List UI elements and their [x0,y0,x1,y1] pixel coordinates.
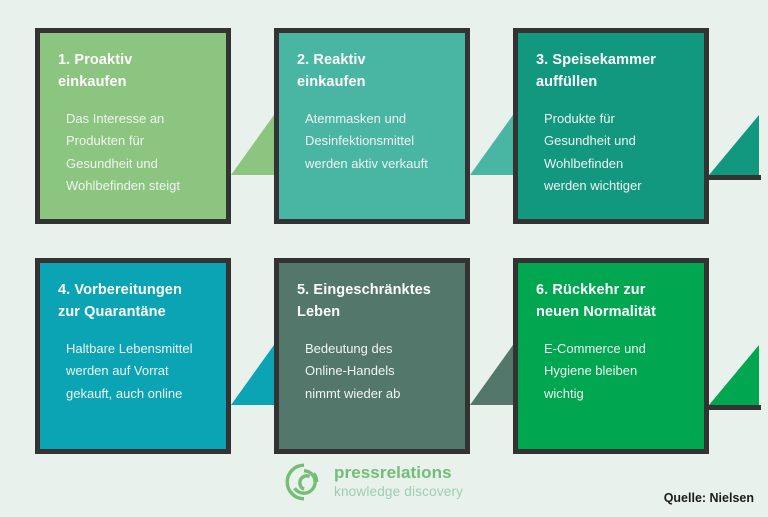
arrow-connector-3-wrap-stem [709,175,761,180]
process-step-5-title: 5. Eingeschränktes Leben [297,279,447,324]
source-attribution: Quelle: Nielsen [664,491,754,505]
arrow-connector-4-to-5 [231,345,274,405]
arrow-connector-6-out-stem [709,405,761,410]
process-step-4-title: 4. Vorbereitungen zur Quarantäne [58,279,208,324]
logo-tagline: knowledge discovery [334,485,463,499]
process-step-6-body: E-Commerce und Hygiene bleiben wichtig [536,338,686,405]
arrow-connector-1-to-2 [231,115,274,175]
logo-text-block: pressrelations knowledge discovery [334,464,463,499]
logo-name: pressrelations [334,464,463,482]
process-step-2-body: Atemmasken und Desinfektionsmittel werde… [297,108,447,175]
process-step-3-title: 3. Speisekammer auffüllen [536,49,686,94]
process-step-6-title: 6. Rückkehr zur neuen Normalität [536,279,686,324]
arrow-connector-2-to-3 [470,115,513,175]
process-step-5-body: Bedeutung des Online-Handels nimmt wiede… [297,338,447,405]
infographic-canvas: 1. Proaktiv einkaufen Das Interesse an P… [0,0,768,517]
pressrelations-swirl-icon [283,461,325,503]
process-step-4-body: Haltbare Lebensmittel werden auf Vorrat … [58,338,208,405]
process-step-3[interactable]: 3. Speisekammer auffüllen Produkte für G… [513,28,709,224]
arrow-connector-6-out [709,345,759,405]
arrow-connector-3-wrap [709,115,759,175]
process-step-5[interactable]: 5. Eingeschränktes Leben Bedeutung des O… [274,258,470,454]
pressrelations-logo: pressrelations knowledge discovery [283,461,463,503]
process-step-1-body: Das Interesse an Produkten für Gesundhei… [58,108,208,197]
process-step-2-title: 2. Reaktiv einkaufen [297,49,447,94]
process-step-1-title: 1. Proaktiv einkaufen [58,49,208,94]
arrow-connector-5-to-6 [470,345,513,405]
process-step-3-body: Produkte für Gesundheit und Wohlbefinden… [536,108,686,197]
process-step-2[interactable]: 2. Reaktiv einkaufen Atemmasken und Desi… [274,28,470,224]
process-step-1[interactable]: 1. Proaktiv einkaufen Das Interesse an P… [35,28,231,224]
process-step-4[interactable]: 4. Vorbereitungen zur Quarantäne Haltbar… [35,258,231,454]
process-step-6[interactable]: 6. Rückkehr zur neuen Normalität E-Comme… [513,258,709,454]
